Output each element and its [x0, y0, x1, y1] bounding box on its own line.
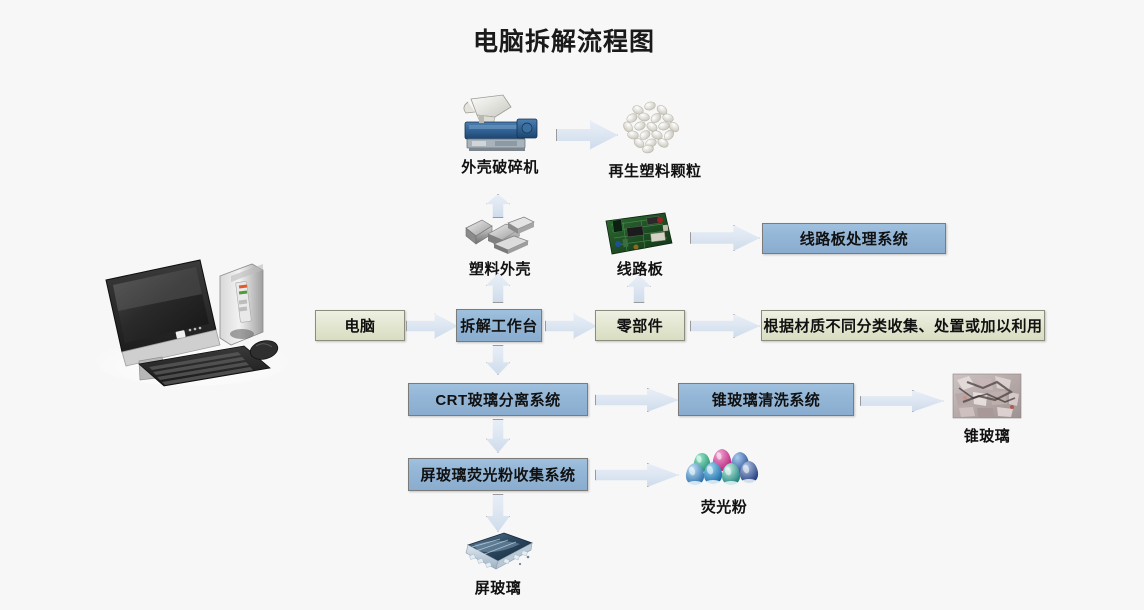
picture-label-shell-crusher: 外壳破碎机	[405, 156, 595, 177]
box-pcb-processing-system[interactable]: 线路板处理系统	[762, 223, 946, 254]
circuit-board-icon	[603, 211, 675, 257]
box-label-computer: 电脑	[344, 315, 375, 336]
plastic-shell-icon	[464, 214, 536, 256]
picture-label-circuit-board: 线路板	[565, 258, 715, 279]
box-label-disassembly-workstation: 拆解工作台	[460, 315, 538, 336]
box-label-parts: 零部件	[617, 315, 664, 336]
picture-label-recycled-pellets: 再生塑料颗粒	[570, 160, 740, 181]
arrow-workstation-to-parts	[545, 313, 597, 339]
arrow-cleaning-to-cone-glass	[860, 390, 944, 412]
phosphor-powder-icon	[686, 447, 762, 491]
arrow-workstation-to-crt	[486, 345, 510, 375]
box-computer[interactable]: 电脑	[315, 310, 405, 341]
page-title-text: 电脑拆解流程图	[473, 22, 655, 58]
plastic-pellets-icon	[618, 98, 692, 154]
box-parts[interactable]: 零部件	[595, 310, 685, 341]
arrow-phosphor-system-to-powder	[595, 463, 679, 487]
picture-label-phosphor-powder: 荧光粉	[664, 496, 784, 517]
arrow-crt-to-cone-cleaning	[595, 388, 679, 412]
box-disassembly-workstation[interactable]: 拆解工作台	[456, 309, 542, 342]
arrow-crt-to-phosphor-system	[486, 419, 510, 453]
picture-label-screen-glass: 屏玻璃	[438, 577, 558, 598]
picture-label-cone-glass: 锥玻璃	[925, 425, 1049, 446]
arrow-crusher-to-pellets	[556, 120, 618, 150]
box-label-pcb-processing-system: 线路板处理系统	[800, 228, 909, 249]
arrow-parts-to-pcb	[627, 275, 651, 303]
flowchart-canvas: 电脑拆解流程图	[0, 0, 1144, 610]
arrow-pcb-to-pcb-system	[690, 225, 760, 251]
crusher-machine-icon	[455, 95, 545, 153]
box-phosphor-collection-system[interactable]: 屏玻璃荧光粉收集系统	[408, 458, 588, 491]
arrow-parts-to-sorting	[690, 314, 760, 338]
cone-glass-icon	[953, 374, 1021, 418]
arrow-computer-to-workstation	[406, 313, 458, 339]
box-label-material-sorting: 根据材质不同分类收集、处置或加以利用	[763, 315, 1042, 336]
box-material-sorting[interactable]: 根据材质不同分类收集、处置或加以利用	[761, 310, 1045, 341]
page-title: 电脑拆解流程图	[0, 22, 1144, 58]
box-cone-glass-cleaning[interactable]: 锥玻璃清洗系统	[678, 383, 854, 416]
box-crt-glass-separation[interactable]: CRT玻璃分离系统	[408, 383, 588, 416]
box-label-crt-glass-separation: CRT玻璃分离系统	[435, 389, 560, 410]
arrow-phosphor-system-to-screen-glass	[486, 494, 510, 532]
box-label-cone-glass-cleaning: 锥玻璃清洗系统	[712, 389, 821, 410]
desktop-computer-icon	[92, 258, 292, 386]
screen-glass-icon	[460, 531, 538, 577]
box-label-phosphor-collection-system: 屏玻璃荧光粉收集系统	[420, 464, 575, 485]
